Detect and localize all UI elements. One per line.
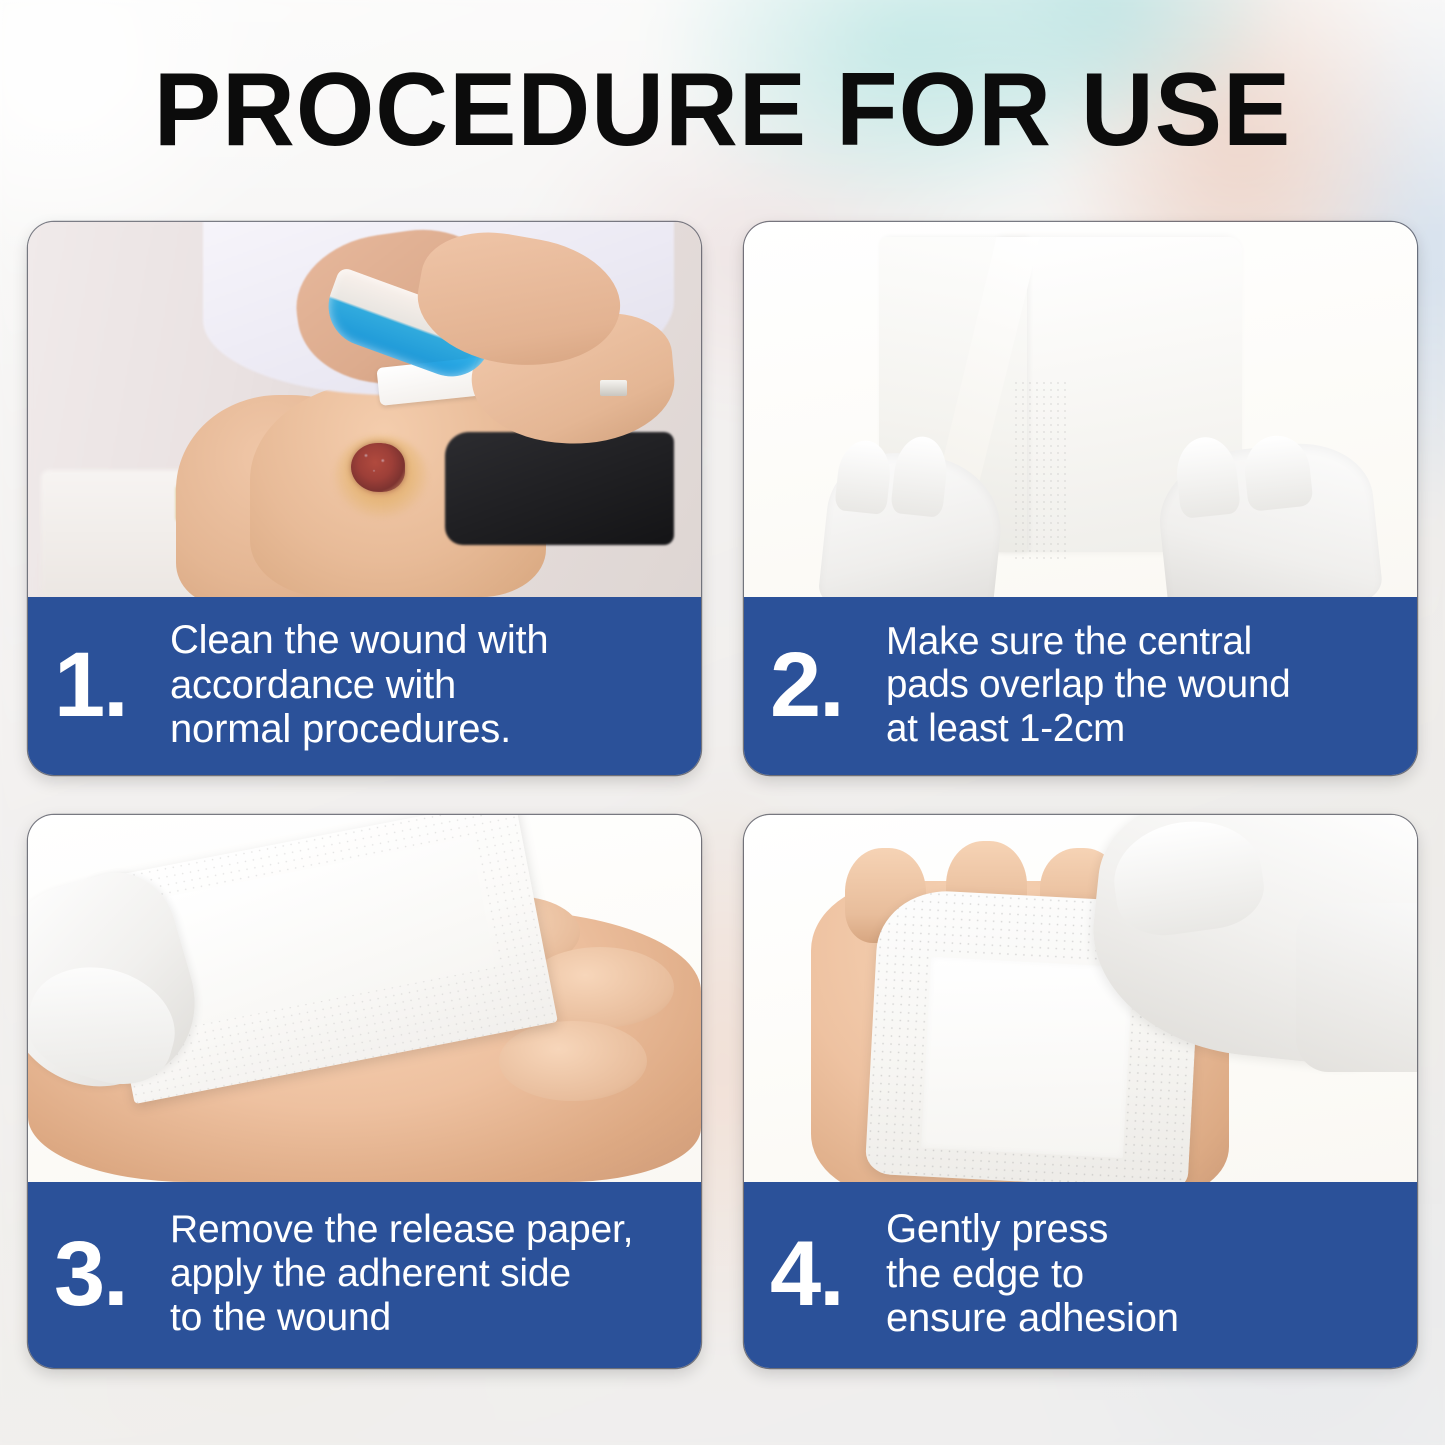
steps-grid: 1. Clean the wound with accordance with … (28, 222, 1417, 1368)
wound-texture (358, 447, 398, 481)
step-4-caption: 4. Gently press the edge to ensure adhes… (744, 1182, 1417, 1368)
step-2-image (744, 222, 1417, 597)
page-title: PROCEDURE FOR USE (22, 58, 1424, 162)
glove-finger (1242, 433, 1314, 512)
step-3-number: 3. (54, 1233, 170, 1316)
knuckle (499, 1021, 647, 1102)
procedure-infographic: PROCEDURE FOR USE (0, 0, 1445, 1445)
step-3-caption: 3. Remove the release paper, apply the a… (28, 1182, 701, 1368)
step-card-2[interactable]: 2. Make sure the central pads overlap th… (744, 222, 1417, 775)
step-3-image (28, 815, 701, 1182)
step-1-text: Clean the wound with accordance with nor… (170, 618, 679, 752)
step-3-text: Remove the release paper, apply the adhe… (170, 1208, 679, 1339)
finger-ring (600, 380, 627, 397)
step-1-caption: 1. Clean the wound with accordance with … (28, 597, 701, 775)
dressing-mesh-texture (1013, 380, 1067, 560)
step-2-number: 2. (770, 644, 886, 727)
step-card-1[interactable]: 1. Clean the wound with accordance with … (28, 222, 701, 775)
step-4-text: Gently press the edge to ensure adhesion (886, 1207, 1395, 1341)
step-2-caption: 2. Make sure the central pads overlap th… (744, 597, 1417, 775)
glove-cuff (1296, 903, 1417, 1072)
right-gloved-hand (1153, 436, 1384, 597)
step-2-text: Make sure the central pads overlap the w… (886, 620, 1395, 749)
step-1-image (28, 222, 701, 597)
step-1-number: 1. (54, 644, 170, 727)
step-4-image (744, 815, 1417, 1182)
step-card-3[interactable]: 3. Remove the release paper, apply the a… (28, 815, 701, 1368)
step-4-number: 4. (770, 1233, 886, 1316)
step-card-4[interactable]: 4. Gently press the edge to ensure adhes… (744, 815, 1417, 1368)
central-pad (921, 957, 1133, 1158)
shorts-shape (445, 432, 674, 545)
